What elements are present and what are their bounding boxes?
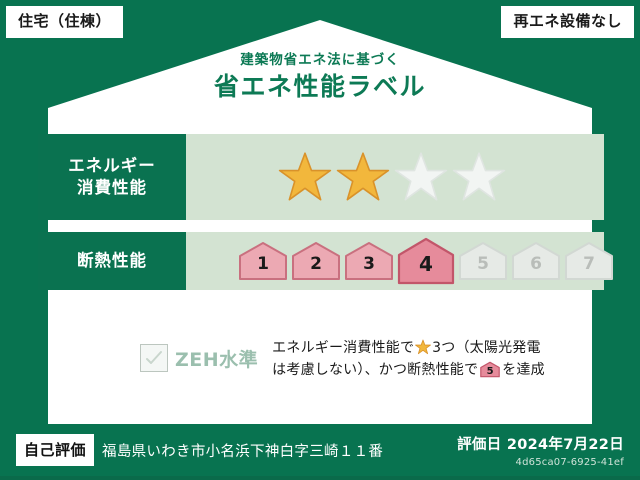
insulation-rank-6: 6 <box>511 241 561 281</box>
zeh-badge: ZEH水準 <box>140 338 258 372</box>
rating-rows: エネルギー 消費性能 断熱性能 <box>38 134 604 302</box>
insulation-rank-3: 3 <box>344 241 394 281</box>
title-block: 建築物省エネ法に基づく 省エネ性能ラベル <box>0 52 640 102</box>
title-subtitle: 建築物省エネ法に基づく <box>0 52 640 68</box>
insulation-rank-5: 5 <box>458 241 508 281</box>
row-energy-stars <box>186 134 604 220</box>
bottom-divider <box>0 476 640 480</box>
insulation-rank-3-number: 3 <box>363 254 375 281</box>
insulation-rank-4-current: 4 <box>397 237 455 285</box>
check-mark-icon <box>145 350 163 366</box>
zeh-description: エネルギー消費性能で3つ（太陽光発電 は考慮しない）、かつ断熱性能で5を達成 <box>272 338 545 381</box>
star-filled-2 <box>336 150 390 204</box>
evaluation-id: 4d65ca07-6925-41ef <box>457 457 624 468</box>
star-empty-3 <box>394 150 448 204</box>
zeh-label: ZEH水準 <box>175 345 258 372</box>
evaluation-date: 評価日 2024年7月22日 <box>457 433 624 454</box>
badge-building-type: 住宅（住棟） <box>6 6 123 38</box>
row-insulation: 断熱性能 1 2 <box>38 232 604 290</box>
zeh-line2-suffix: を達成 <box>502 362 545 378</box>
insulation-rank-1: 1 <box>238 241 288 281</box>
insulation-rank-7: 7 <box>564 241 614 281</box>
insulation-rank-1-number: 1 <box>257 254 269 281</box>
zeh-line1-prefix: エネルギー消費性能で <box>272 340 414 356</box>
row-insulation-label-line1: 断熱性能 <box>77 250 147 272</box>
insulation-rank-2-number: 2 <box>310 254 322 281</box>
row-energy-label: エネルギー 消費性能 <box>38 134 186 220</box>
zeh-checkbox-icon <box>140 344 168 372</box>
property-address: 福島県いわき市小名浜下神白字三崎１１番 <box>102 440 383 461</box>
footer-right: 評価日 2024年7月22日 4d65ca07-6925-41ef <box>457 433 624 468</box>
zeh-line1-suffix: 3つ（太陽光発電 <box>432 340 541 356</box>
zeh-section: ZEH水準 エネルギー消費性能で3つ（太陽光発電 は考慮しない）、かつ断熱性能で… <box>140 338 545 381</box>
insulation-rank-2: 2 <box>291 241 341 281</box>
row-insulation-label: 断熱性能 <box>38 232 186 290</box>
star-filled-1 <box>278 150 332 204</box>
inline-star-icon <box>415 339 431 355</box>
self-evaluation-badge: 自己評価 <box>16 434 94 466</box>
insulation-rank-7-number: 7 <box>583 254 595 281</box>
inline-house-icon: 5 <box>480 361 500 378</box>
row-energy-consumption: エネルギー 消費性能 <box>38 134 604 220</box>
insulation-rank-5-number: 5 <box>477 254 489 281</box>
badge-renewable-energy: 再エネ設備なし <box>501 6 634 38</box>
inline-house-rank: 5 <box>480 367 500 377</box>
insulation-rank-4-number: 4 <box>419 252 433 285</box>
star-empty-4 <box>452 150 506 204</box>
row-energy-label-line1: エネルギー <box>68 155 156 177</box>
footer-left: 自己評価 福島県いわき市小名浜下神白字三崎１１番 <box>16 434 383 466</box>
row-insulation-houses: 1 2 3 4 <box>186 232 617 290</box>
insulation-rank-6-number: 6 <box>530 254 542 281</box>
zeh-description-line2: は考慮しない）、かつ断熱性能で5を達成 <box>272 360 545 382</box>
row-energy-label-line2: 消費性能 <box>77 177 147 199</box>
title-main: 省エネ性能ラベル <box>0 71 640 102</box>
energy-performance-label: 住宅（住棟） 再エネ設備なし 建築物省エネ法に基づく 省エネ性能ラベル エネルギ… <box>0 0 640 480</box>
zeh-line2-prefix: は考慮しない）、かつ断熱性能で <box>272 362 478 378</box>
zeh-description-line1: エネルギー消費性能で3つ（太陽光発電 <box>272 338 545 360</box>
